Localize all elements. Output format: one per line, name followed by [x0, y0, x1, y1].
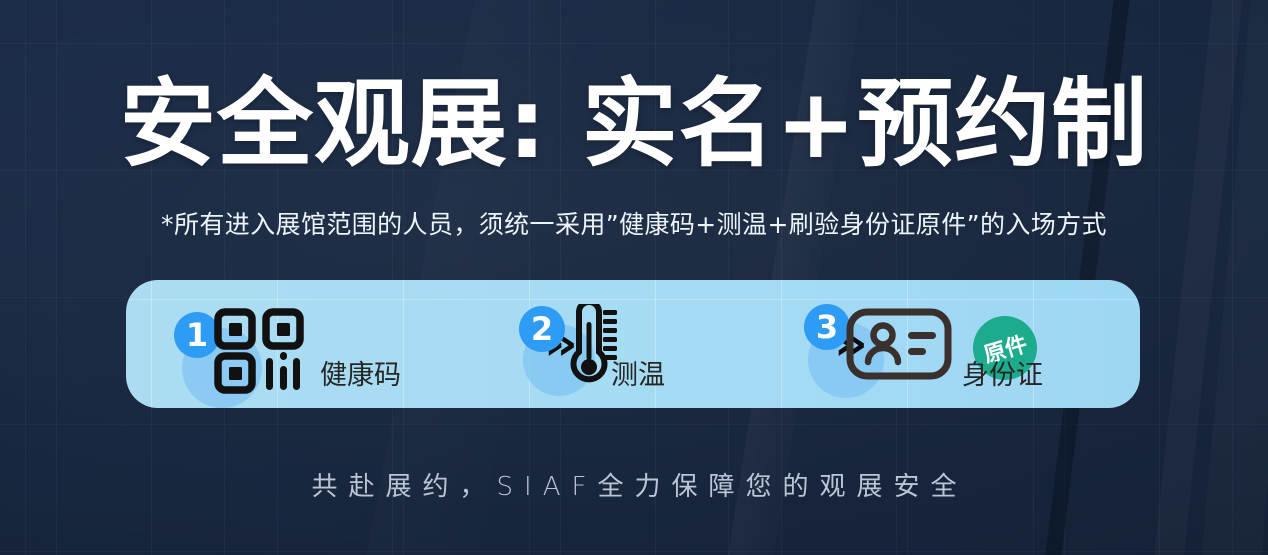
step-label-1: 健康码: [320, 353, 401, 392]
step-label-3: 身份证: [962, 353, 1043, 392]
thermometer-icon: [557, 304, 617, 389]
id-card-icon: 原件: [846, 308, 952, 385]
page-title: 安全观展: 实名+预约制: [0, 74, 1268, 176]
entry-steps-bar: 1: [126, 280, 1140, 408]
promo-banner: 安全观展: 实名+预约制 *所有进入展馆范围的人员，须统一采用”健康码+测温+刷…: [0, 0, 1268, 555]
step-number-3: 3: [804, 304, 850, 350]
step-label-2: 测温: [611, 353, 665, 392]
page-subtitle: *所有进入展馆范围的人员，须统一采用”健康码+测温+刷验身份证原件”的入场方式: [0, 205, 1268, 241]
qr-code-icon: [214, 308, 306, 399]
footer-tagline: 共赴展约，SIAF全力保障您的观展安全: [0, 466, 1268, 503]
